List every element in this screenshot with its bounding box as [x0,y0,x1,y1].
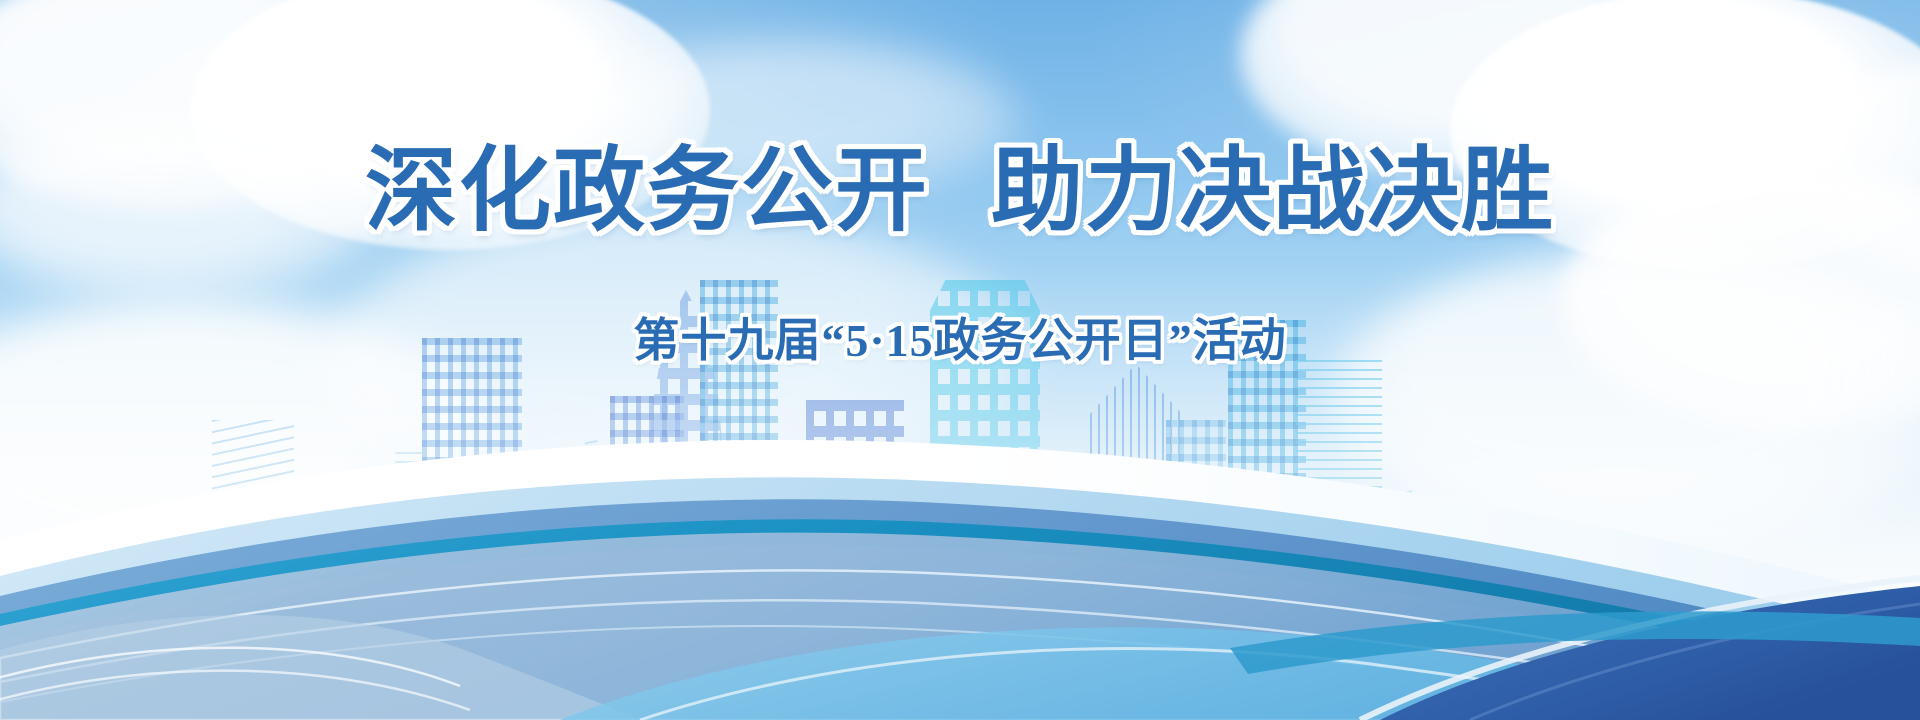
main-title-part-1: 深化政务公开 [365,142,929,241]
subtitle: 第十九届“5·15政务公开日”活动 [0,304,1920,370]
text-layer: 深化政务公开助力决战决胜 第十九届“5·15政务公开日”活动 [0,0,1920,720]
subtitle-text: 第十九届“5·15政务公开日”活动 [633,315,1286,366]
main-title-part-2: 助力决战决胜 [991,142,1555,241]
banner-root: 深化政务公开助力决战决胜 第十九届“5·15政务公开日”活动 [0,0,1920,720]
main-title: 深化政务公开助力决战决胜 [0,142,1920,241]
